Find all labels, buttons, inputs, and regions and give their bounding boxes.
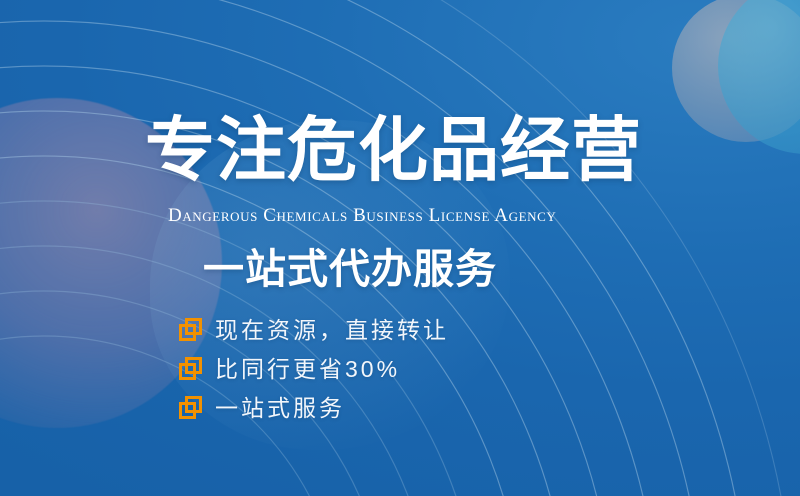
secondary-title: 一站式代办服务 xyxy=(203,244,497,294)
overlapping-squares-icon xyxy=(178,395,204,421)
list-item: 一站式服务 xyxy=(178,392,449,423)
list-item-label: 一站式服务 xyxy=(215,394,345,422)
overlapping-squares-icon xyxy=(178,356,204,382)
feature-list: 现在资源，直接转让 比同行更省30% 一站式服务 xyxy=(178,314,449,423)
list-item: 现在资源，直接转让 xyxy=(178,314,449,345)
list-item-label: 比同行更省30% xyxy=(215,355,400,383)
overlapping-squares-icon xyxy=(178,317,204,343)
list-item: 比同行更省30% xyxy=(178,353,449,384)
promo-banner: 专注危化品经营 Dangerous Chemicals Business Lic… xyxy=(0,0,800,496)
english-subtitle: Dangerous Chemicals Business License Age… xyxy=(168,204,556,228)
list-item-label: 现在资源，直接转让 xyxy=(215,316,449,344)
page-title: 专注危化品经营 xyxy=(145,108,642,192)
banner-content: 专注危化品经营 Dangerous Chemicals Business Lic… xyxy=(0,0,800,496)
